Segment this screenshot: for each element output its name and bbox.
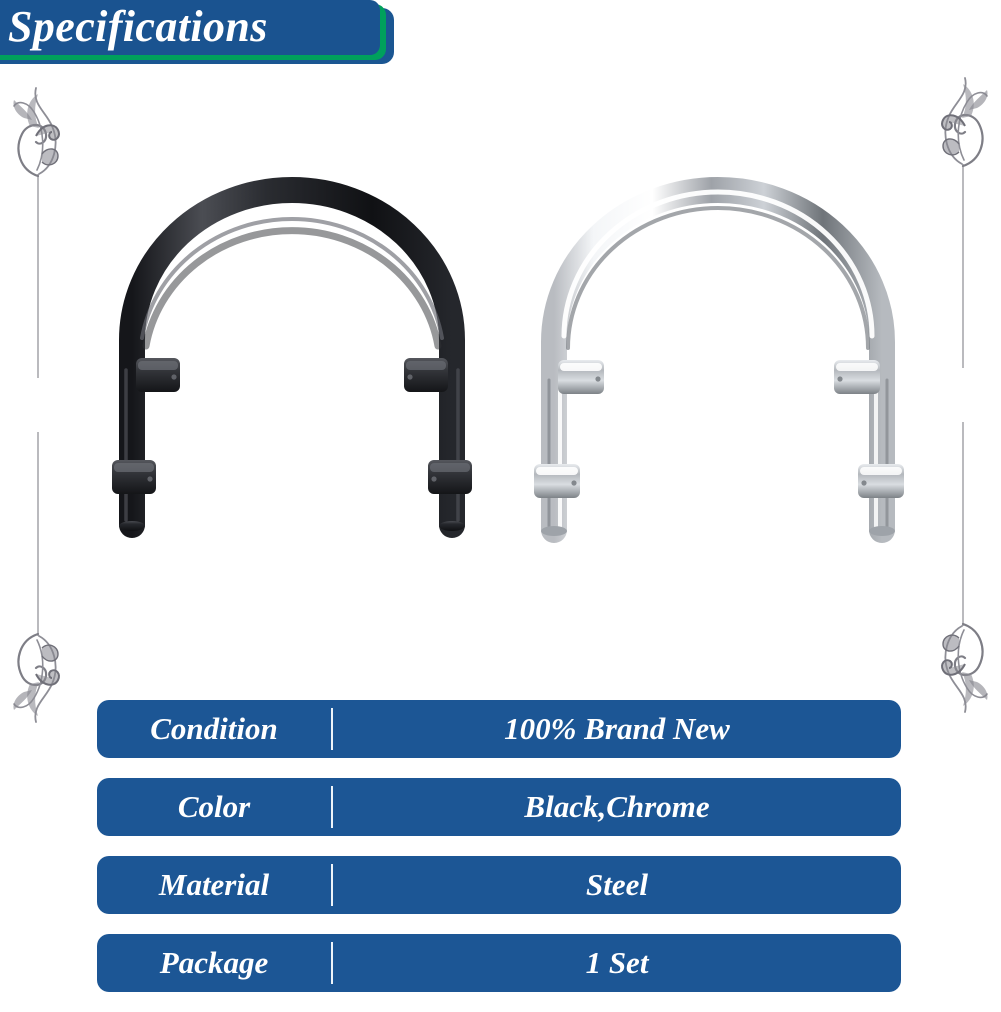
header-banner: Specifications bbox=[0, 0, 400, 62]
spec-value: 1 Set bbox=[333, 945, 901, 981]
spec-label: Material bbox=[97, 867, 331, 903]
specifications-table: Condition 100% Brand New Color Black,Chr… bbox=[97, 700, 901, 1012]
page-title: Specifications bbox=[8, 0, 378, 56]
spec-label: Condition bbox=[97, 711, 331, 747]
product-image-chrome-sissy-bar bbox=[508, 170, 928, 570]
table-row: Package 1 Set bbox=[97, 934, 901, 992]
table-row: Condition 100% Brand New bbox=[97, 700, 901, 758]
product-image-black-sissy-bar bbox=[92, 170, 492, 570]
spec-value: Black,Chrome bbox=[333, 789, 901, 825]
spec-label: Color bbox=[97, 789, 331, 825]
product-image-gallery bbox=[0, 170, 1001, 590]
spec-value: 100% Brand New bbox=[333, 711, 901, 747]
table-row: Material Steel bbox=[97, 856, 901, 914]
spec-label: Package bbox=[97, 945, 331, 981]
spec-value: Steel bbox=[333, 867, 901, 903]
table-row: Color Black,Chrome bbox=[97, 778, 901, 836]
